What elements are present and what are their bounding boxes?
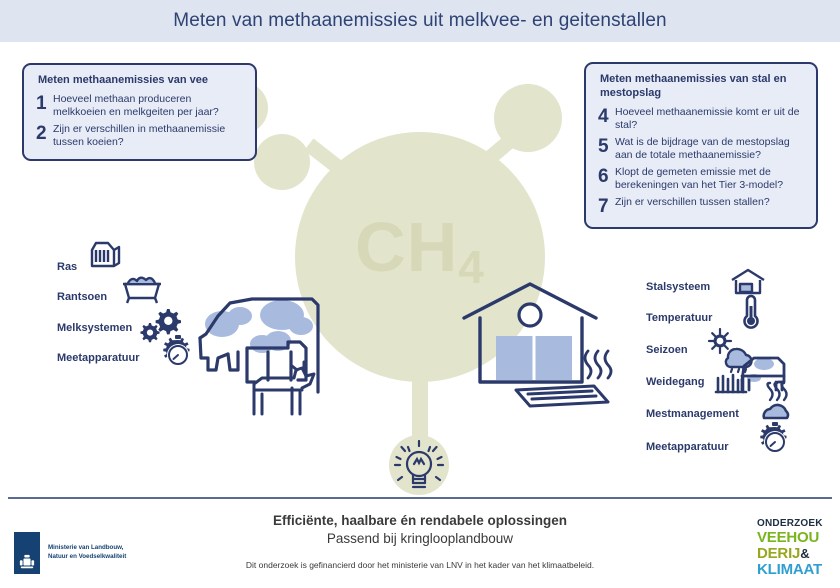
research-logo-line-2: VEEHOU xyxy=(757,530,829,545)
question-box-livestock[interactable]: Meten methaanemissies van vee 1 Hoeveel … xyxy=(22,63,257,161)
milk-carton-icon xyxy=(86,238,122,270)
research-logo-ampersand: & xyxy=(800,546,809,561)
question-item: 7 Zijn er verschillen tussen stallen? xyxy=(598,196,804,217)
research-logo-derij: DERIJ xyxy=(757,545,800,562)
question-item: 5 Wat is de bijdrage van de mestopslag a… xyxy=(598,136,804,162)
question-item: 2 Zijn er verschillen in methaanemissie … xyxy=(36,123,243,149)
question-item: 4 Hoeveel methaanemissie komt er uit de … xyxy=(598,106,804,132)
question-box-barn-manure-title: Meten methaanemissies van stal en mestop… xyxy=(600,73,804,101)
header-band: Meten van methaanemissies uit melkvee- e… xyxy=(0,0,840,42)
stopwatch-icon xyxy=(757,421,793,459)
barn-illustration xyxy=(462,282,638,418)
question-text: Wat is de bijdrage van de mestopslag aan… xyxy=(615,136,804,162)
molecule-formula-main: CH xyxy=(355,208,458,286)
molecule-atom-topright xyxy=(494,84,562,152)
manure-steam-icon xyxy=(759,382,793,422)
footer-divider xyxy=(8,497,832,499)
research-logo-line-4: KLIMAAT xyxy=(757,562,829,577)
ministry-logo-text: Ministerie van Landbouw, Natuur en Voeds… xyxy=(48,544,126,562)
footer-line-1: Efficiënte, haalbare én rendabele oploss… xyxy=(0,512,840,530)
question-number: 5 xyxy=(598,137,615,157)
feed-trough-icon xyxy=(119,272,165,304)
ministry-logo-line-2: Natuur en Voedselkwaliteit xyxy=(48,553,126,562)
infographic-page: Meten van methaanemissies uit melkvee- e… xyxy=(0,0,840,588)
ministry-logo-bar xyxy=(14,532,40,574)
factor-label-meetapparatuur-left: Meetapparatuur xyxy=(57,352,140,364)
question-number: 4 xyxy=(598,107,615,127)
question-item: 1 Hoeveel methaan produceren melkkoeien … xyxy=(36,93,243,119)
barn-icon xyxy=(729,267,767,297)
question-text: Hoeveel methaanemissie komt er uit de st… xyxy=(615,106,804,132)
factor-label-seizoen: Seizoen xyxy=(646,344,688,356)
research-logo-line-1: ONDERZOEK xyxy=(757,519,829,529)
ministry-crest-icon xyxy=(18,554,36,570)
page-title: Meten van methaanemissies uit melkvee- e… xyxy=(173,10,666,32)
question-box-barn-manure[interactable]: Meten methaanemissies van stal en mestop… xyxy=(584,62,818,229)
question-box-livestock-title: Meten methaanemissies van vee xyxy=(38,74,243,88)
research-logo-line-3: DERIJ& xyxy=(757,546,829,561)
question-text: Klopt de gemeten emissie met de berekeni… xyxy=(615,166,804,192)
lightbulb-illustration xyxy=(377,437,461,499)
factor-label-meetapparatuur-right: Meetapparatuur xyxy=(646,441,729,453)
factor-label-stalsysteem: Stalsysteem xyxy=(646,281,710,293)
cow-goat-illustration xyxy=(196,292,346,420)
factor-label-temperatuur: Temperatuur xyxy=(646,312,712,324)
molecule-formula: CH4 xyxy=(262,207,578,287)
research-programme-logo: ONDERZOEK VEEHOU DERIJ& KLIMAAT xyxy=(757,519,829,577)
question-text: Zijn er verschillen in methaanemissie tu… xyxy=(53,123,243,149)
question-text: Zijn er verschillen tussen stallen? xyxy=(615,196,804,209)
stopwatch-icon xyxy=(160,334,196,372)
factor-label-mestmanagement: Mestmanagement xyxy=(646,408,739,420)
thermometer-icon xyxy=(740,294,762,332)
question-number: 6 xyxy=(598,167,615,187)
factor-label-weidegang: Weidegang xyxy=(646,376,704,388)
ministry-logo-line-1: Ministerie van Landbouw, xyxy=(48,544,126,553)
factor-label-melksystemen: Melksystemen xyxy=(57,322,132,334)
question-item: 6 Klopt de gemeten emissie met de bereke… xyxy=(598,166,804,192)
question-number: 1 xyxy=(36,94,53,114)
question-text: Hoeveel methaan produceren melkkoeien en… xyxy=(53,93,243,119)
factor-label-ras: Ras xyxy=(57,261,77,273)
ministry-logo: Ministerie van Landbouw, Natuur en Voeds… xyxy=(14,532,126,574)
question-number: 2 xyxy=(36,124,53,144)
molecule-atom-left xyxy=(254,134,310,190)
question-number: 7 xyxy=(598,197,615,217)
factor-label-rantsoen: Rantsoen xyxy=(57,291,107,303)
